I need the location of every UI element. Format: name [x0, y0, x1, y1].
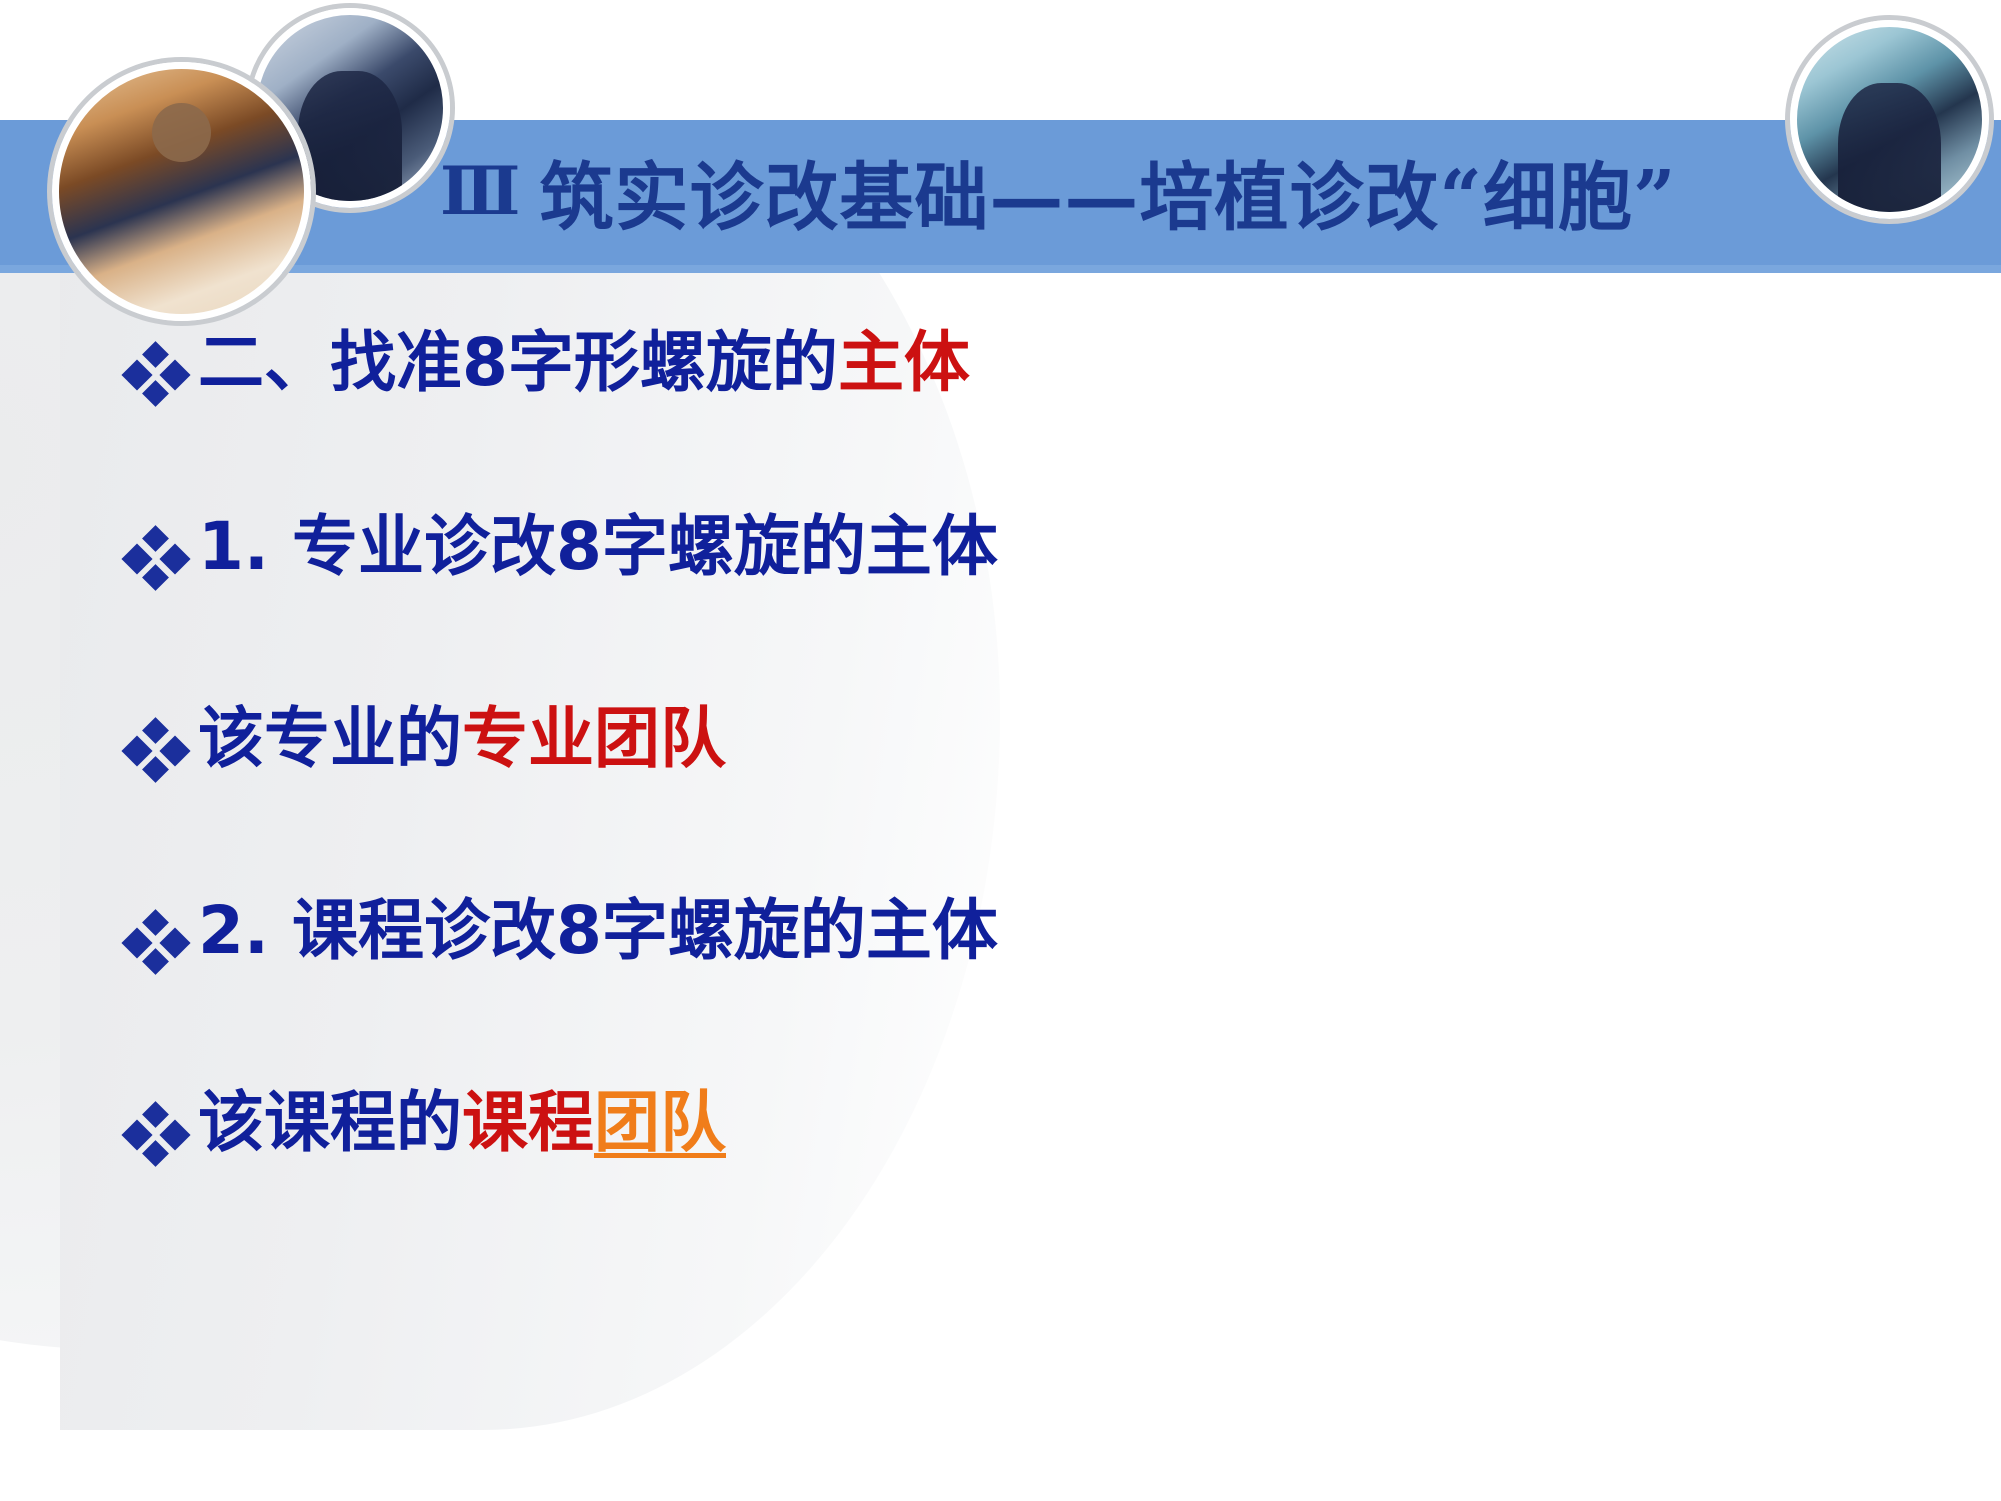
slide-canvas: Ⅲ 筑实诊改基础——培植诊改“细胞” 二、找准8字形螺旋的主体 1. 专业诊改8… — [0, 0, 2001, 1501]
list-item: 该专业的专业团队 — [120, 706, 1820, 786]
diamond-bullet-icon — [120, 522, 192, 594]
photo-figure-shape — [298, 71, 402, 208]
bullet-list: 二、找准8字形螺旋的主体 1. 专业诊改8字螺旋的主体 该专业的专业团队 — [120, 330, 1820, 1170]
bullet-1-segment-2: 主体 — [838, 324, 970, 401]
diamond-bullet-icon — [120, 906, 192, 978]
diamond-bullet-icon — [120, 714, 192, 786]
diamond-bullet-icon — [120, 338, 192, 410]
bullet-2-text: 1. 专业诊改8字螺旋的主体 — [198, 514, 998, 580]
photo-figure-shape — [1838, 83, 1942, 220]
bullet-1-segment-1: 二、找准8字形螺旋的 — [198, 324, 838, 401]
bullet-3-segment-2: 专业团队 — [462, 700, 726, 777]
section-numeral: Ⅲ — [440, 152, 521, 230]
bullet-1-text: 二、找准8字形螺旋的主体 — [198, 330, 970, 396]
bullet-5-text: 该课程的课程团队 — [198, 1090, 726, 1156]
bullet-4-text: 2. 课程诊改8字螺旋的主体 — [198, 898, 998, 964]
list-item: 2. 课程诊改8字螺旋的主体 — [120, 898, 1820, 978]
photo-circle-right-icon — [1790, 20, 1989, 219]
photo-head-shape — [152, 103, 211, 162]
bullet-3-segment-1: 该专业的 — [198, 700, 462, 777]
bullet-5-segment-3: 团队 — [594, 1084, 726, 1161]
list-item: 该课程的课程团队 — [120, 1090, 1820, 1170]
page-title: Ⅲ 筑实诊改基础——培植诊改“细胞” — [440, 126, 1670, 256]
bullet-4-segment-1: 2. 课程诊改8字螺旋的主体 — [198, 892, 998, 969]
header-band-underline — [0, 265, 2001, 273]
bullet-3-text: 该专业的专业团队 — [198, 706, 726, 772]
bullet-2-segment-1: 1. 专业诊改8字螺旋的主体 — [198, 508, 998, 585]
page-title-text: 筑实诊改基础——培植诊改“细胞” — [539, 138, 1676, 245]
bullet-5-segment-2: 课程 — [462, 1084, 594, 1161]
photo-circle-left-icon — [52, 62, 311, 321]
diamond-bullet-icon — [120, 1098, 192, 1170]
bullet-5-segment-1: 该课程的 — [198, 1084, 462, 1161]
list-item: 二、找准8字形螺旋的主体 — [120, 330, 1820, 410]
list-item: 1. 专业诊改8字螺旋的主体 — [120, 514, 1820, 594]
